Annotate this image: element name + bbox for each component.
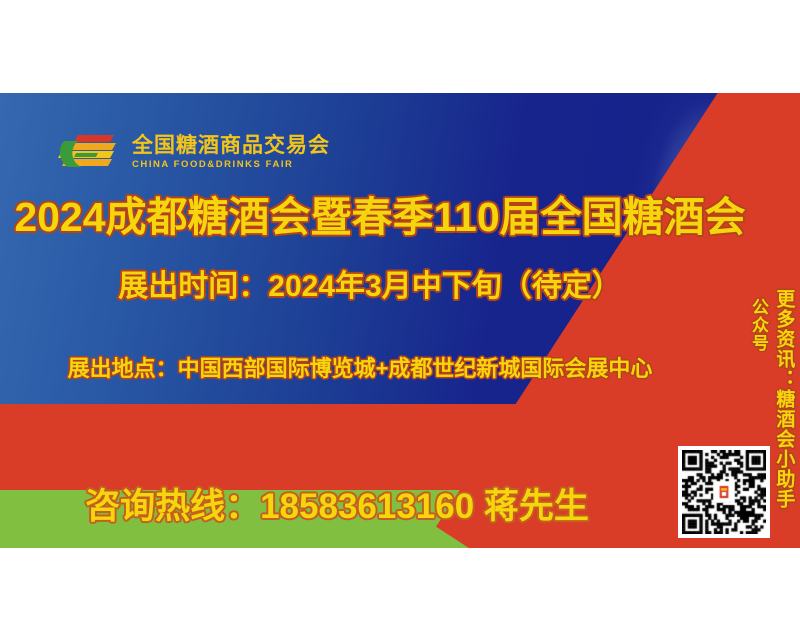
fair-logo: 全国糖酒商品交易会 CHINA FOOD&DRINKS FAIR <box>58 133 330 171</box>
qr-code[interactable] <box>678 446 770 538</box>
fair-logo-name-cn: 全国糖酒商品交易会 <box>132 135 330 156</box>
poster-headline: 2024成都糖酒会暨春季110届全国糖酒会 <box>0 183 760 243</box>
poster-date-line: 展出时间：2024年3月中下旬（待定） <box>0 261 740 305</box>
fair-logo-text: 全国糖酒商品交易会 CHINA FOOD&DRINKS FAIR <box>132 135 330 170</box>
fair-logo-name-en: CHINA FOOD&DRINKS FAIR <box>132 160 330 170</box>
poster-venue-line: 展出地点：中国西部国际博览城+成都世纪新城国际会展中心 <box>0 351 720 383</box>
promo-poster: 全国糖酒商品交易会 CHINA FOOD&DRINKS FAIR 2024成都糖… <box>0 93 800 548</box>
poster-hotline: 咨询热线：18583613160 蒋先生 <box>22 478 652 529</box>
side-text-more-info: 更多资讯：糖酒会小助手 <box>772 289 794 509</box>
fair-logo-mark-icon <box>58 133 120 171</box>
side-text-official-account: 公众号 <box>748 298 768 352</box>
